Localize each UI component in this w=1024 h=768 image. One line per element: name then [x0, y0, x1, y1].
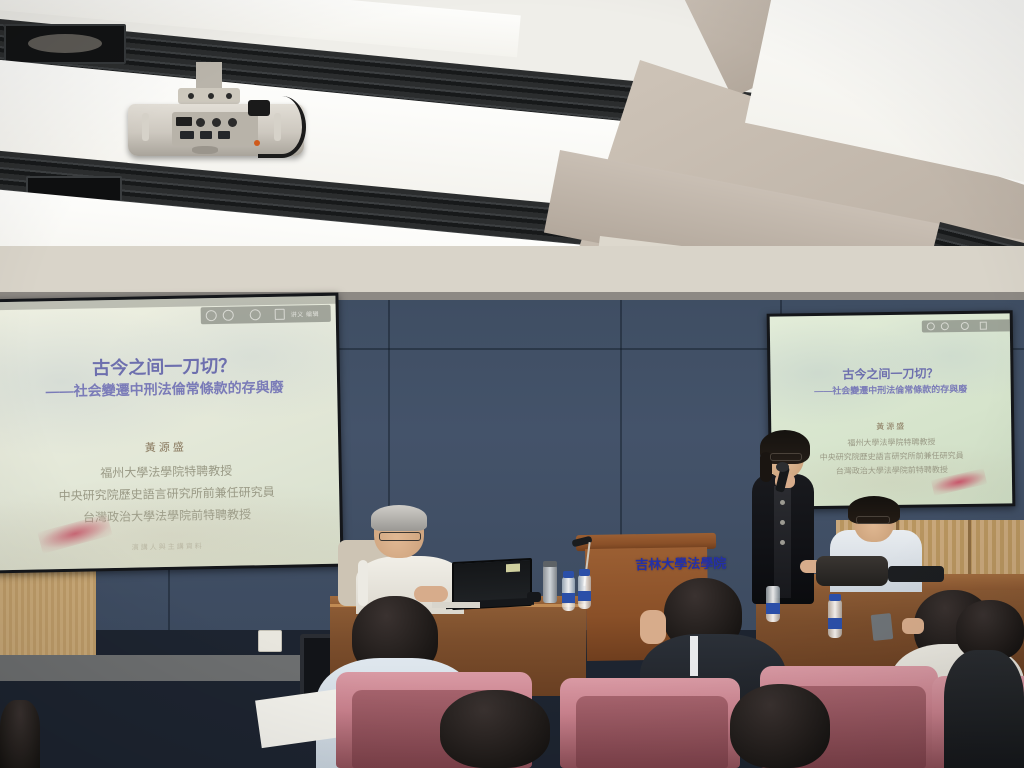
water-bottle: [578, 575, 591, 609]
smartphone[interactable]: [871, 613, 894, 641]
thermos: [543, 565, 557, 603]
panelist-glasses-icon: [856, 516, 890, 524]
projector-vga-port-icon: [180, 131, 194, 139]
podium-sign: 吉林大學法學院: [635, 553, 726, 574]
book-icon[interactable]: [275, 309, 285, 320]
water-bottle-cap: [563, 571, 574, 578]
clock-icon[interactable]: [961, 322, 969, 330]
ceiling-speaker-grille: [28, 34, 102, 53]
projector-hdmi-port-icon: [176, 117, 192, 126]
emoji-icon[interactable]: [206, 310, 217, 321]
slide-bottom-wash: [0, 496, 341, 571]
emoji-icon[interactable]: [927, 322, 935, 330]
projector-usb-port-icon: [200, 131, 212, 139]
wall-power-outlet: [258, 630, 282, 652]
water-bottle-cap: [579, 569, 590, 576]
search-icon[interactable]: [223, 310, 234, 321]
water-bottle: [766, 586, 780, 622]
presenter-collar: [358, 560, 368, 606]
slide-toolbar[interactable]: [922, 319, 1012, 332]
audience-chair-seat[interactable]: [576, 696, 728, 768]
search-icon[interactable]: [941, 322, 949, 330]
wood-wall-panel-left: [0, 566, 96, 666]
ceiling-speaker-housing: [4, 24, 126, 64]
audience-hand: [902, 618, 924, 634]
presenter-glasses-icon: [379, 532, 421, 541]
slide-toolbar-label: 讲义 编辑: [291, 309, 319, 319]
water-bottle: [828, 600, 842, 638]
audience-head-front: [730, 684, 830, 768]
audience-head-front: [440, 690, 550, 768]
projector-mount-plate: [178, 88, 240, 104]
projector-vent-left: [142, 113, 149, 141]
mount-bolt-icon: [188, 93, 194, 99]
projection-screen-left: 讲义 编辑 古今之间一刀切？ ——社会變遷中刑法倫常條款的存與廢 黃源盛 福州大…: [0, 293, 344, 574]
projector-audio-port-icon: [218, 131, 230, 139]
laptop-sticker: [506, 564, 520, 573]
mount-bolt-icon: [208, 93, 214, 99]
projector-port-icon: [212, 118, 221, 127]
projector-port-icon: [228, 118, 237, 127]
speaker-glasses-icon: [770, 453, 802, 461]
slide-toolbar[interactable]: 讲义 编辑: [201, 305, 331, 324]
audience-head-edge: [0, 700, 40, 768]
microphone-head-icon: [776, 462, 789, 472]
desk-paper: [432, 602, 480, 608]
lecture-hall-photo: 讲义 编辑 古今之间一刀切？ ——社会變遷中刑法倫常條款的存與廢 黃源盛 福州大…: [0, 0, 1024, 768]
speaker-button-icon: [780, 540, 785, 545]
water-bottle: [562, 577, 575, 611]
projector-logo: [192, 146, 218, 154]
thermos-cap: [543, 561, 557, 567]
speaker-button-icon: [780, 520, 785, 525]
desk-bag-right: [888, 566, 944, 582]
desk-remote: [527, 592, 541, 602]
presenter-hair: [371, 505, 427, 531]
book-icon[interactable]: [980, 322, 987, 330]
audience-shoulders-right: [944, 650, 1024, 768]
slide-title: 古今之间一刀切？: [770, 363, 1010, 383]
audience-hand: [640, 610, 666, 644]
clock-icon[interactable]: [250, 309, 261, 320]
presenter-hand: [414, 586, 448, 602]
mount-bolt-icon: [226, 93, 232, 99]
shoulder-bag: [816, 556, 888, 586]
projector-cable-clamp: [248, 100, 270, 116]
projector-port-icon: [196, 118, 205, 127]
water-bottle-cap: [829, 594, 841, 601]
audience-lanyard: [690, 636, 698, 676]
speaker-button-icon: [780, 500, 785, 505]
